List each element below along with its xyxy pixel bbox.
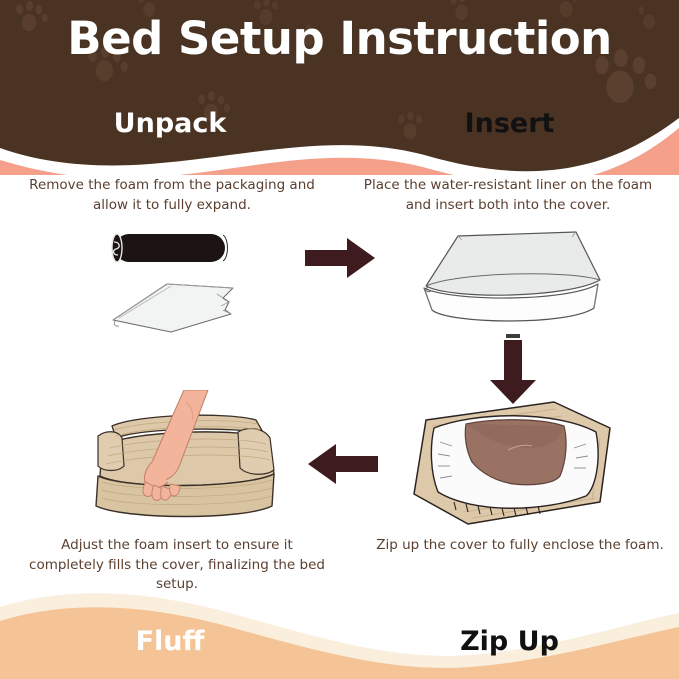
illustration-rolled-foam-and-liner — [105, 228, 285, 338]
step-label-insert: Insert — [340, 108, 679, 139]
bed-bolster-left — [98, 432, 124, 471]
step-label-zip-up: Zip Up — [340, 626, 679, 657]
illustration-cushion-with-liner — [418, 226, 608, 341]
step-caption-fluff: Adjust the foam insert to ensure it comp… — [28, 536, 326, 595]
step-caption-insert: Place the water-resistant liner on the f… — [352, 176, 664, 215]
illustration-open-cover-with-foam — [404, 398, 624, 528]
page-title: Bed Setup Instruction — [0, 12, 679, 65]
bed-setup-infographic: Bed Setup Instruction Unpack Insert Zip … — [0, 0, 679, 679]
step-label-unpack: Unpack — [0, 108, 340, 139]
arrow-down-icon — [486, 340, 540, 406]
bed-bolster-right — [238, 429, 274, 475]
arrow-left-icon — [306, 442, 378, 486]
rolled-foam-shape — [112, 234, 228, 262]
folded-liner-shape — [113, 284, 233, 332]
arrow-right-icon — [305, 236, 377, 280]
step-caption-zip-up: Zip up the cover to fully enclose the fo… — [376, 536, 664, 556]
liner-top-shape — [426, 232, 600, 295]
step-caption-unpack: Remove the foam from the packaging and a… — [18, 176, 326, 215]
zipper-tab-shape — [506, 334, 520, 338]
step-label-fluff: Fluff — [0, 626, 340, 657]
illustration-hand-pressing-bed — [88, 390, 318, 530]
